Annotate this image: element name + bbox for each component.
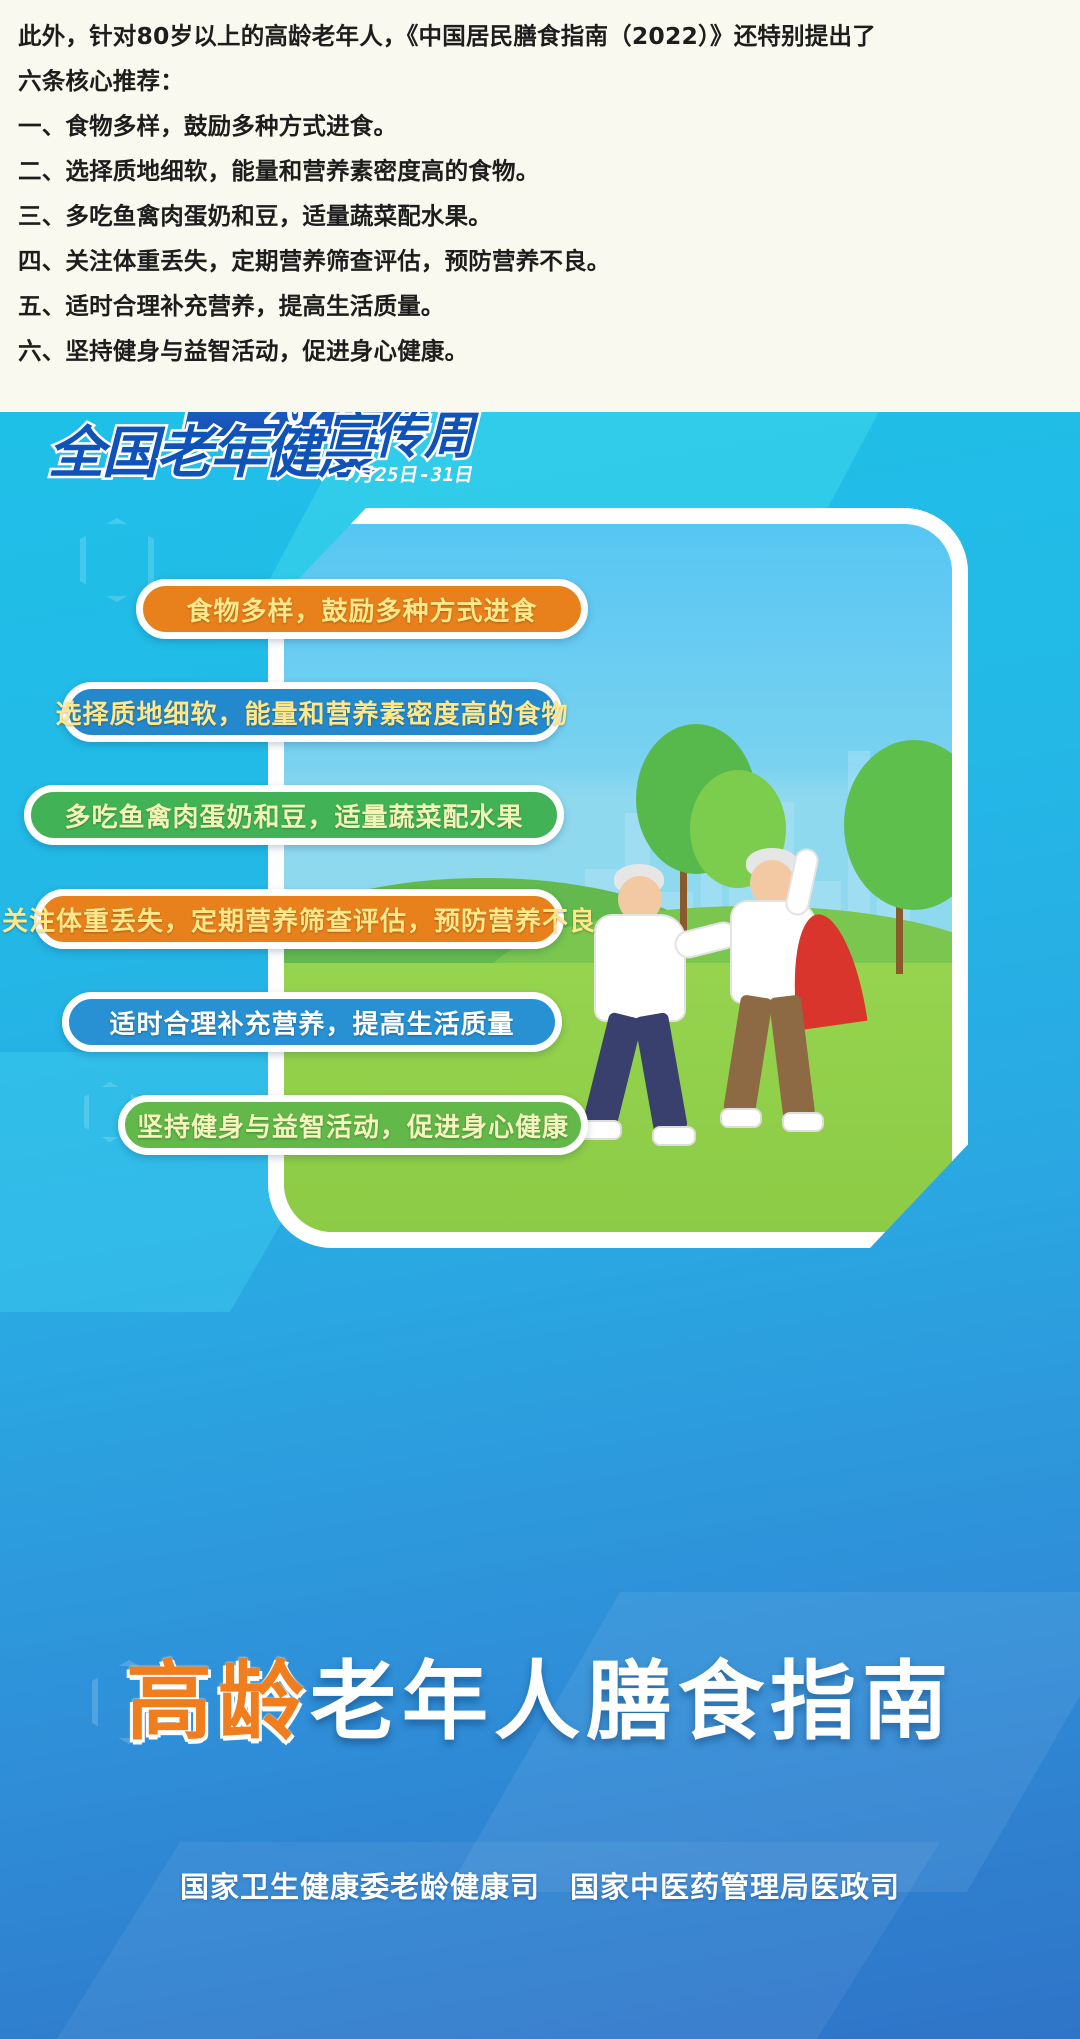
- shoe: [720, 1108, 762, 1128]
- article-recommendation-1: 一、食物多样，鼓励多种方式进食。: [18, 104, 1062, 149]
- recommendation-pill-4-label: 关注体重丢失，定期营养筛查评估，预防营养不良: [2, 901, 596, 938]
- poster-title-highlight: 高龄: [126, 1652, 310, 1752]
- article-paragraph-2: 六条核心推荐：: [18, 59, 1062, 104]
- leg: [634, 1012, 688, 1134]
- shoe: [782, 1112, 824, 1132]
- logo-right-text: 宣传周: [324, 412, 474, 466]
- leg: [723, 994, 773, 1116]
- recommendation-pill-5-label: 适时合理补充营养，提高生活质量: [109, 1004, 514, 1041]
- poster-title-rest: 老年人膳食指南: [310, 1652, 954, 1752]
- recommendation-pill-1-label: 食物多样，鼓励多种方式进食: [186, 591, 537, 628]
- recommendation-pill-6[interactable]: 坚持健身与益智活动，促进身心健康: [118, 1095, 588, 1155]
- recommendation-pill-3-label: 多吃鱼禽肉蛋奶和豆，适量蔬菜配水果: [64, 797, 523, 834]
- leg: [583, 1012, 643, 1129]
- article-paragraph-1: 此外，针对80岁以上的高龄老年人，《中国居民膳食指南（2022）》还特别提出了: [18, 14, 1062, 59]
- article-recommendation-4: 四、关注体重丢失，定期营养筛查评估，预防营养不良。: [18, 239, 1062, 284]
- logo-date-range: 7月25日-31日: [342, 460, 477, 487]
- poster-image: 2022 全国老年健康 宣传周 7月25日-31日 食物多样，鼓励多种方式进食 …: [0, 412, 1080, 2039]
- article-recommendation-3: 三、多吃鱼禽肉蛋奶和豆，适量蔬菜配水果。: [18, 194, 1062, 239]
- recommendation-pill-5[interactable]: 适时合理补充营养，提高生活质量: [62, 992, 562, 1052]
- shoe: [652, 1126, 696, 1146]
- article-recommendation-2: 二、选择质地细软，能量和营养素密度高的食物。: [18, 149, 1062, 194]
- recommendation-pill-2-label: 选择质地细软，能量和营养素密度高的食物: [56, 694, 569, 731]
- campaign-logo: 2022 全国老年健康 宣传周 7月25日-31日: [48, 412, 478, 534]
- article-text-block: 此外，针对80岁以上的高龄老年人，《中国居民膳食指南（2022）》还特别提出了 …: [0, 0, 1080, 412]
- poster-title: 高龄老年人膳食指南: [0, 1652, 1080, 1752]
- page-root: 此外，针对80岁以上的高龄老年人，《中国居民膳食指南（2022）》还特别提出了 …: [0, 0, 1080, 2039]
- recommendation-pill-1[interactable]: 食物多样，鼓励多种方式进食: [136, 579, 588, 639]
- article-recommendation-6: 六、坚持健身与益智活动，促进身心健康。: [18, 329, 1062, 374]
- recommendation-pill-4[interactable]: 关注体重丢失，定期营养筛查评估，预防营养不良: [34, 889, 564, 949]
- recommendation-pill-2[interactable]: 选择质地细软，能量和营养素密度高的食物: [62, 682, 562, 742]
- recommendation-pill-3[interactable]: 多吃鱼禽肉蛋奶和豆，适量蔬菜配水果: [24, 785, 564, 845]
- article-recommendation-5: 五、适时合理补充营养，提高生活质量。: [18, 284, 1062, 329]
- torso: [594, 914, 686, 1022]
- poster-footer-organizations: 国家卫生健康委老龄健康司 国家中医药管理局医政司: [0, 1864, 1080, 1906]
- elderly-woman-figure: [706, 844, 846, 1164]
- recommendation-pill-6-label: 坚持健身与益智活动，促进身心健康: [137, 1107, 569, 1144]
